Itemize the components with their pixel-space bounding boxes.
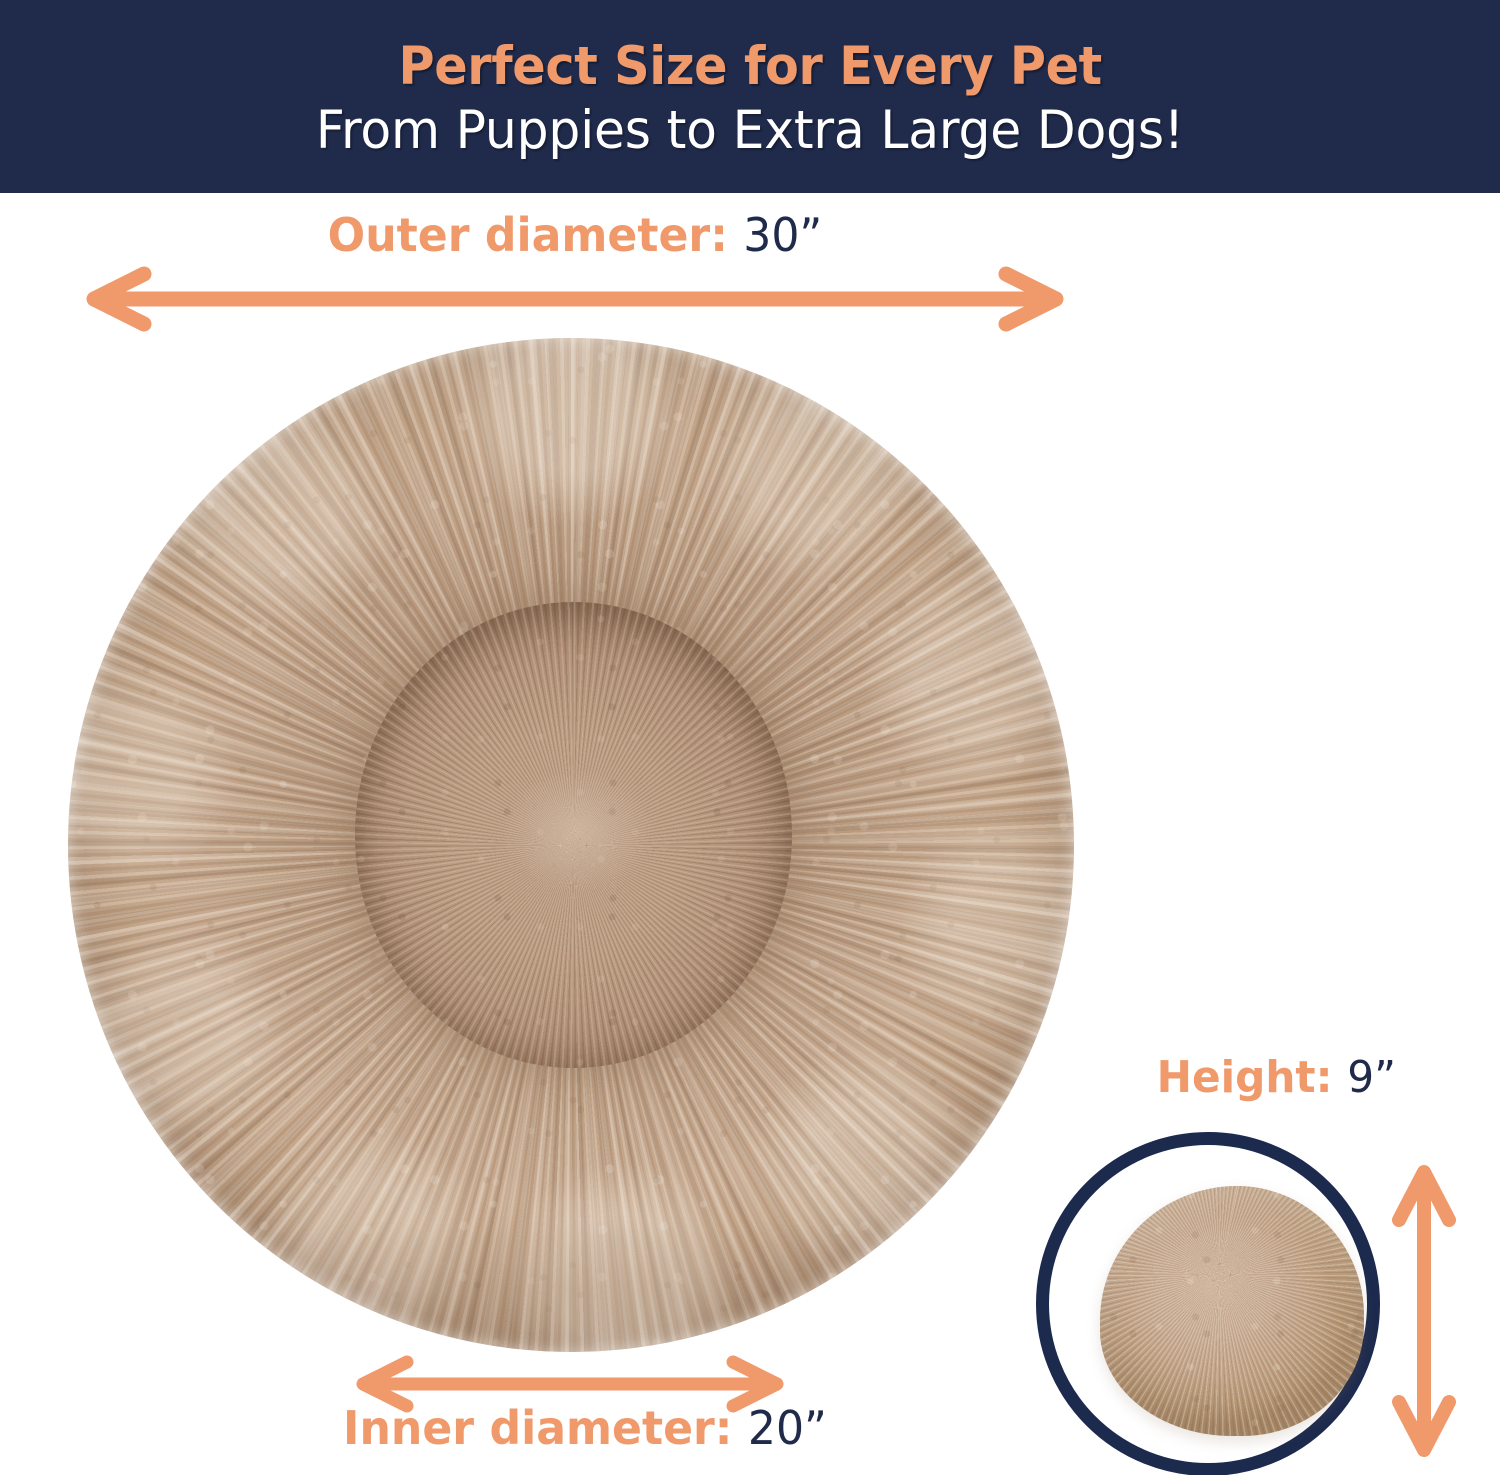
inner-highlight	[503, 770, 652, 891]
bed-inner-cushion	[355, 602, 793, 1068]
inner-diameter-label: Inner diameter: 20”	[316, 1405, 854, 1451]
header-subtitle: From Puppies to Extra Large Dogs!	[316, 100, 1184, 162]
height-label: Height: 9”	[1157, 1056, 1474, 1100]
bed-outer-rim	[68, 338, 1074, 1352]
inner-diameter-label-text: Inner diameter:	[343, 1401, 732, 1455]
outer-diameter-label-text: Outer diameter:	[328, 208, 728, 262]
pet-bed-side-view	[1100, 1186, 1364, 1436]
outer-diameter-arrow-icon	[70, 268, 1080, 330]
side-fur-speckle	[1100, 1186, 1364, 1436]
pet-bed-top-view	[68, 338, 1074, 1352]
height-inset	[1036, 1132, 1394, 1475]
outer-diameter-label: Outer diameter: 30”	[23, 212, 1127, 258]
height-label-text: Height:	[1157, 1052, 1333, 1103]
inner-diameter-value: 20”	[748, 1401, 827, 1455]
header-banner: Perfect Size for Every Pet From Puppies …	[0, 0, 1500, 193]
infographic-canvas: Perfect Size for Every Pet From Puppies …	[0, 0, 1500, 1475]
height-value: 9”	[1347, 1052, 1396, 1103]
outer-diameter-value: 30”	[743, 208, 822, 262]
height-arrow-icon	[1388, 1158, 1460, 1464]
header-title: Perfect Size for Every Pet	[398, 36, 1101, 98]
